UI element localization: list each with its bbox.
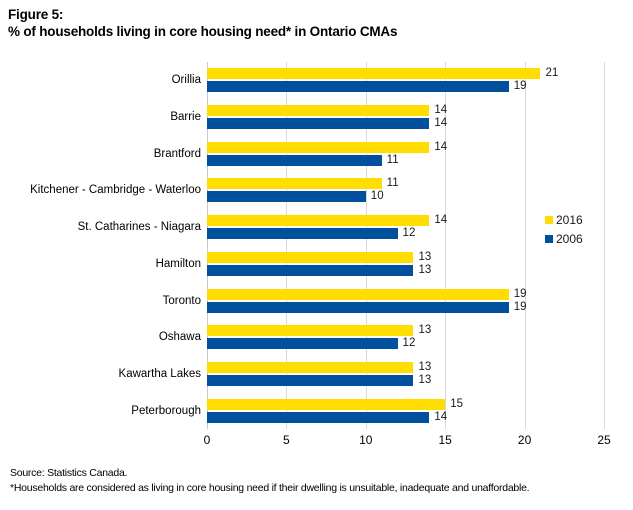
bar-2006 — [207, 302, 509, 313]
bar-value-label: 19 — [514, 289, 527, 300]
category-label: Kitchener - Cambridge - Waterloo — [30, 184, 201, 196]
bar-value-label: 21 — [545, 68, 558, 79]
category-label: Orillia — [172, 74, 201, 86]
bar-2006 — [207, 412, 429, 423]
gridline-0 — [207, 62, 208, 429]
bar-2006 — [207, 228, 398, 239]
bar-2016 — [207, 142, 429, 153]
category-axis: OrilliaBarrieBrantfordKitchener - Cambri… — [0, 62, 201, 429]
bar-2006 — [207, 375, 413, 386]
bar-2016 — [207, 399, 445, 410]
bar-value-label: 19 — [514, 302, 527, 313]
bar-2006 — [207, 118, 429, 129]
gridline-10 — [366, 62, 367, 429]
bar-2016 — [207, 68, 540, 79]
category-label: Barrie — [170, 111, 201, 123]
x-tick-label: 5 — [283, 433, 290, 447]
bar-2006 — [207, 338, 398, 349]
bar-value-label: 14 — [434, 118, 447, 129]
bar-2006 — [207, 81, 509, 92]
bar-2016 — [207, 289, 509, 300]
bar-chart: OrilliaBarrieBrantfordKitchener - Cambri… — [0, 48, 633, 456]
source-note: Source: Statistics Canada. — [10, 466, 625, 481]
bar-value-label: 12 — [403, 228, 416, 239]
figure-title: Figure 5: % of households living in core… — [8, 6, 628, 40]
gridline-20 — [525, 62, 526, 429]
category-label: Toronto — [163, 295, 201, 307]
bar-value-label: 12 — [403, 338, 416, 349]
x-tick-label: 10 — [359, 433, 372, 447]
legend-item-2006[interactable]: 2006 — [545, 230, 615, 247]
gridline-5 — [286, 62, 287, 429]
chart-legend: 20162006 — [545, 211, 615, 249]
definition-note: *Households are considered as living in … — [10, 481, 625, 496]
category-label: Kawartha Lakes — [119, 368, 201, 380]
bar-value-label: 13 — [418, 265, 431, 276]
bar-2016 — [207, 252, 413, 263]
category-label: Hamilton — [156, 258, 201, 270]
bar-2006 — [207, 155, 382, 166]
bar-value-label: 10 — [371, 191, 384, 202]
bar-2016 — [207, 325, 413, 336]
bar-2006 — [207, 265, 413, 276]
category-label: Oshawa — [159, 331, 201, 343]
footnotes: Source: Statistics Canada. *Households a… — [10, 466, 625, 496]
x-tick-label: 0 — [204, 433, 211, 447]
bar-2006 — [207, 191, 366, 202]
bar-value-label: 14 — [434, 142, 447, 153]
bar-value-label: 13 — [418, 252, 431, 263]
bar-2016 — [207, 362, 413, 373]
bar-value-label: 11 — [387, 178, 399, 189]
bar-value-label: 11 — [387, 155, 399, 166]
bar-2016 — [207, 215, 429, 226]
legend-label: 2006 — [556, 233, 583, 245]
x-tick-label: 15 — [439, 433, 452, 447]
category-label: Peterborough — [131, 405, 201, 417]
figure-subtitle: % of households living in core housing n… — [8, 23, 628, 40]
bar-value-label: 19 — [514, 81, 527, 92]
bar-value-label: 15 — [450, 399, 463, 410]
category-label: St. Catharines - Niagara — [78, 221, 201, 233]
bar-value-label: 14 — [434, 412, 447, 423]
legend-swatch-icon — [545, 216, 553, 224]
legend-item-2016[interactable]: 2016 — [545, 211, 615, 228]
bar-2016 — [207, 178, 382, 189]
category-label: Brantford — [154, 148, 201, 160]
bar-value-label: 14 — [434, 105, 447, 116]
bar-value-label: 14 — [434, 215, 447, 226]
legend-swatch-icon — [545, 235, 553, 243]
value-axis: 0510152025 — [207, 433, 604, 453]
x-tick-label: 25 — [597, 433, 610, 447]
bar-2016 — [207, 105, 429, 116]
bar-value-label: 13 — [418, 325, 431, 336]
x-tick-label: 20 — [518, 433, 531, 447]
figure-number: Figure 5: — [8, 6, 628, 23]
legend-label: 2016 — [556, 214, 583, 226]
bar-value-label: 13 — [418, 362, 431, 373]
bar-value-label: 13 — [418, 375, 431, 386]
